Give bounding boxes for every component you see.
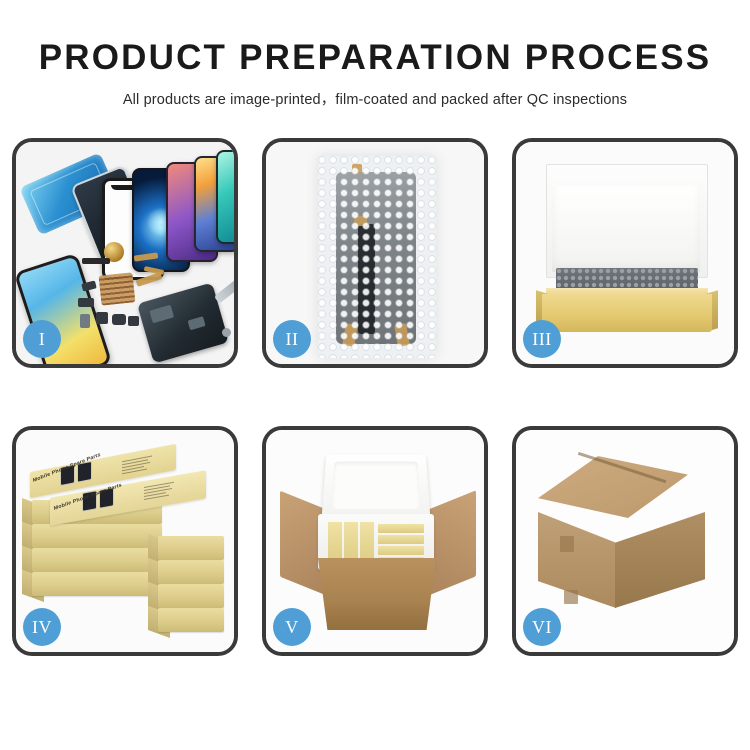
page-title: PRODUCT PREPARATION PROCESS — [0, 40, 750, 77]
carton-tape-2 — [564, 590, 578, 604]
carton-open-icon: V — [266, 430, 484, 652]
process-step-grid: I II — [12, 138, 738, 688]
tape-piece-2 — [354, 216, 367, 226]
lcd-inside-bag — [336, 172, 416, 344]
product-preparation-infographic: PRODUCT PREPARATION PROCESS All products… — [0, 0, 750, 750]
process-step-5: V — [262, 426, 488, 656]
small-part-2 — [78, 298, 94, 307]
foam-box-icon: III — [516, 142, 734, 364]
small-part-6 — [128, 316, 139, 326]
step-badge-5: V — [273, 608, 311, 646]
tape-piece-4 — [394, 323, 410, 347]
box-stack-icon: Mobile Phone Spare Parts Mobile Phone Sp… — [16, 430, 234, 652]
bubble-wrap-bag — [318, 156, 436, 358]
bubble-wrap-icon: II — [266, 142, 484, 364]
step-badge-2: II — [273, 320, 311, 358]
carton-body — [318, 558, 436, 630]
step-badge-4: IV — [23, 608, 61, 646]
tape-piece-1 — [352, 164, 362, 173]
carton-tape-1 — [560, 536, 574, 552]
process-step-4: Mobile Phone Spare Parts Mobile Phone Sp… — [12, 426, 238, 656]
part-bar-1 — [82, 258, 110, 264]
box-front-panel — [542, 294, 712, 332]
styrofoam-lid — [322, 454, 431, 518]
process-step-1: I — [12, 138, 238, 368]
small-part-4 — [96, 312, 108, 324]
carton-sealed-icon: VI — [516, 430, 734, 652]
chip-grid-icon — [99, 272, 136, 305]
lcd-flex-cable — [358, 224, 375, 334]
process-step-3: III — [512, 138, 738, 368]
header: PRODUCT PREPARATION PROCESS All products… — [0, 0, 750, 109]
process-step-2: II — [262, 138, 488, 368]
small-part-1 — [81, 280, 97, 291]
step-badge-3: III — [523, 320, 561, 358]
step-badge-1: I — [23, 320, 61, 358]
white-foam-sheet — [552, 186, 700, 272]
screen-panel-f — [216, 150, 234, 244]
screw-part-1 — [222, 328, 231, 337]
page-subtitle: All products are image-printed，film-coat… — [0, 88, 750, 109]
small-part-5 — [112, 314, 126, 325]
phone-parts-icon: I — [16, 142, 234, 364]
carton-right-face — [615, 512, 705, 608]
tape-piece-3 — [342, 323, 358, 347]
repair-tool-icon — [214, 269, 234, 303]
small-part-3 — [80, 314, 90, 328]
process-step-6: VI — [512, 426, 738, 656]
step-badge-6: VI — [523, 608, 561, 646]
